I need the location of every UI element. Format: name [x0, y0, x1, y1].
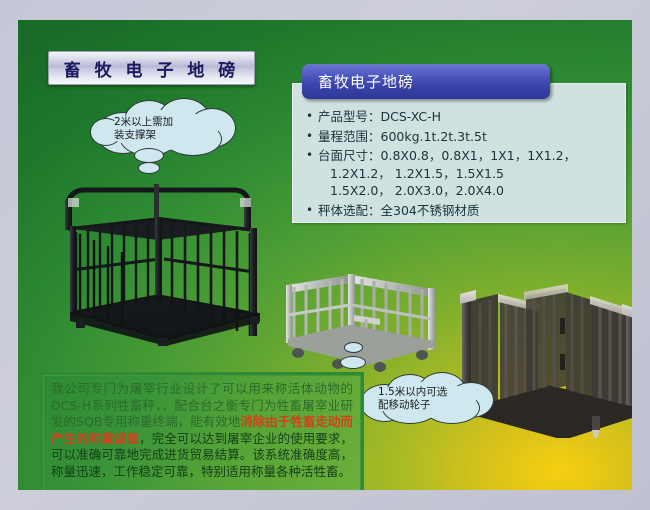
description-text: 我公司专门为屠宰行业设计了可以用来称活体动物的DCS-H系列牲畜秤，，配合台之衡…: [43, 375, 361, 480]
bullet-icon: •: [306, 128, 318, 146]
description-box: 我公司专门为屠宰行业设计了可以用来称活体动物的DCS-H系列牲畜秤，，配合台之衡…: [40, 372, 364, 490]
spec-value: 全304不锈钢材质: [381, 203, 480, 218]
spec-label: 量程范围：: [318, 129, 381, 144]
spec-label: 秤体选配：: [318, 203, 381, 218]
spec-value: 600kg.1t.2t.3t.5t: [381, 129, 487, 144]
spec-item-platform-size: • 台面尺寸：0.8X0.8，0.8X1，1X1，1X1.2， 1.2X1.2，…: [306, 147, 624, 200]
spec-item-capacity: • 量程范围：600kg.1t.2t.3t.5t: [306, 128, 624, 146]
slide-background: 畜 牧 电 子 地 磅 畜牧电子地磅 • 产品型号：DCS-XC-H • 量程范…: [18, 20, 632, 490]
slide-canvas: 畜 牧 电 子 地 磅 畜牧电子地磅 • 产品型号：DCS-XC-H • 量程范…: [0, 0, 650, 510]
callout-support-frame-note: 2米以上需加 装支撑架: [90, 98, 240, 156]
spec-label: 产品型号：: [318, 109, 381, 124]
bullet-icon: •: [306, 147, 318, 200]
spec-item-text: 产品型号：DCS-XC-H: [318, 108, 624, 126]
spec-value-line-2: 1.2X1.2， 1.2X1.5，1.5X1.5: [318, 165, 624, 183]
spec-item-text: 量程范围：600kg.1t.2t.3t.5t: [318, 128, 624, 146]
spec-value: 0.8X0.8，0.8X1，1X1，1X1.2，: [381, 148, 577, 163]
bullet-icon: •: [306, 108, 318, 126]
bullet-icon: •: [306, 202, 318, 220]
page-title: 畜 牧 电 子 地 磅: [64, 56, 240, 81]
spec-panel-title: 畜牧电子地磅: [302, 71, 414, 92]
spec-panel-header: 畜牧电子地磅: [302, 64, 550, 99]
callout-text: 2米以上需加 装支撑架: [114, 116, 173, 142]
spec-value-line-3: 1.5X2.0， 2.0X3.0，2.0X4.0: [318, 182, 624, 200]
spec-label: 台面尺寸：: [318, 148, 381, 163]
product-image-livestock-cage-scale-dark: [54, 162, 272, 362]
spec-list: • 产品型号：DCS-XC-H • 量程范围：600kg.1t.2t.3t.5t…: [306, 108, 624, 221]
spec-value: DCS-XC-H: [381, 109, 441, 124]
page-title-banner: 畜 牧 电 子 地 磅: [48, 51, 255, 85]
callout-text: 1.5米以内可选 配移动轮子: [378, 386, 447, 412]
spec-item-text: 台面尺寸：0.8X0.8，0.8X1，1X1，1X1.2， 1.2X1.2， 1…: [318, 147, 624, 200]
spec-item-text: 秤体选配：全304不锈钢材质: [318, 202, 624, 220]
callout-wheels-note: 1.5米以内可选 配移动轮子: [356, 372, 496, 422]
spec-item-model: • 产品型号：DCS-XC-H: [306, 108, 624, 126]
spec-item-material: • 秤体选配：全304不锈钢材质: [306, 202, 624, 220]
